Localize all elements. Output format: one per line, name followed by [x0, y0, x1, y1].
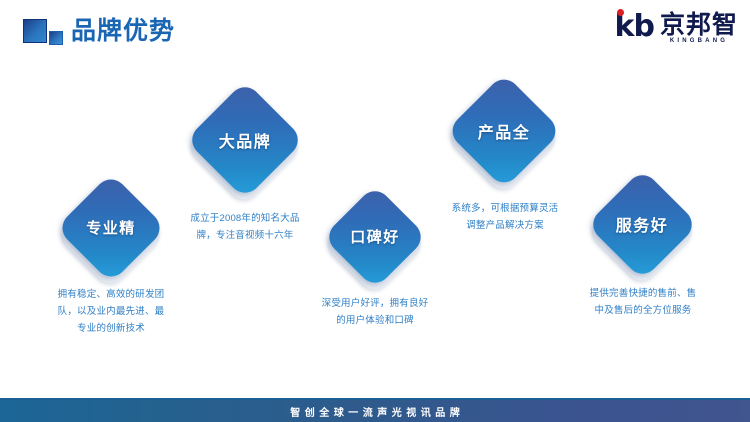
blue-square-icon	[23, 19, 47, 43]
advantage-node-description: 系统多，可根据预算灵活 调整产品解决方案	[412, 200, 598, 234]
blue-square-small-icon	[49, 31, 63, 45]
slide-footer: 智创全球一流声光视讯品牌	[0, 398, 750, 422]
advantage-node-description: 拥有稳定、高效的研发团 队，以及业内最先进、最 专业的创新技术	[16, 286, 206, 337]
advantage-node-label: 大品牌	[203, 128, 287, 152]
advantage-node-label: 服务好	[603, 212, 682, 236]
advantage-node-label: 产品全	[463, 119, 545, 143]
advantage-node-description: 深受用户好评，拥有良好 的用户体验和口碑	[282, 295, 468, 329]
brand-logo: kb 京邦智 KINGBANG	[615, 12, 738, 46]
advantage-node-description: 成立于2008年的知名大品 牌，专注音视频十六年	[150, 210, 340, 244]
slide-canvas: 品牌优势 kb 京邦智 KINGBANG 专业精拥有稳定、高效的研发团 队，以及…	[0, 0, 750, 422]
red-dot-icon	[617, 9, 624, 16]
slide-header: 品牌优势 kb 京邦智 KINGBANG	[0, 0, 750, 62]
logo-mark: kb	[615, 12, 654, 42]
logo-brand-en: KINGBANG	[670, 37, 728, 45]
advantage-node[interactable]: 产品全	[463, 90, 545, 172]
advantage-node-description: 提供完善快捷的售前、售 中及售后的全方位服务	[548, 285, 738, 319]
advantage-node[interactable]: 服务好	[603, 185, 682, 264]
advantage-node[interactable]: 口碑好	[338, 200, 412, 274]
advantage-node-label: 口碑好	[338, 226, 412, 247]
advantage-node-label: 专业精	[72, 217, 150, 238]
page-title: 品牌优势	[71, 15, 175, 47]
logo-brand-cn: 京邦智	[660, 12, 738, 38]
logo-wordmark: 京邦智 KINGBANG	[660, 12, 738, 45]
footer-slogan: 智创全球一流声光视讯品牌	[286, 404, 465, 419]
advantage-node[interactable]: 专业精	[72, 189, 150, 267]
advantage-node[interactable]: 大品牌	[203, 98, 287, 182]
